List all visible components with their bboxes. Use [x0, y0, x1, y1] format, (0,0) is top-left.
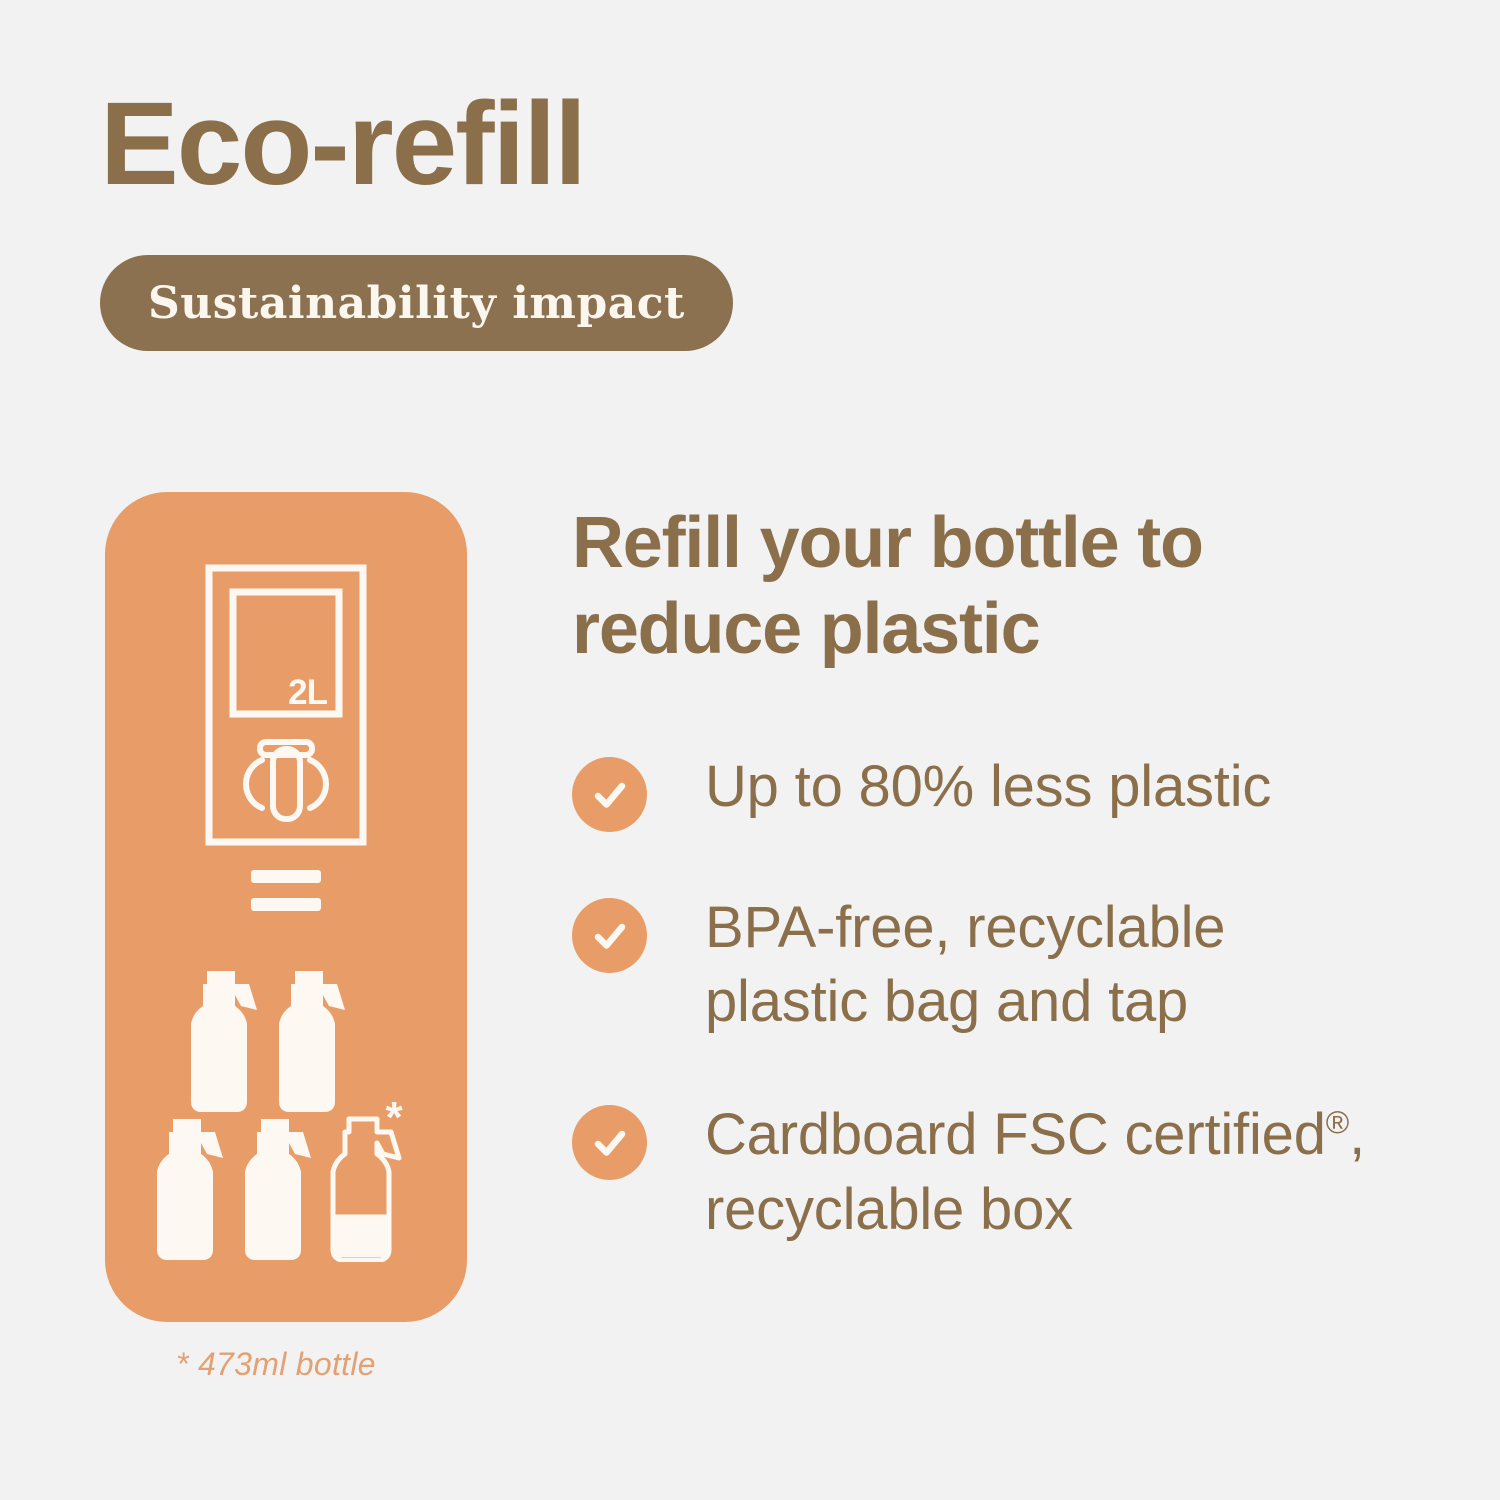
list-item-line-1-punct: , [1349, 1102, 1365, 1167]
asterisk-marker: * [385, 1093, 403, 1142]
list-item-line-1: Up to 80% less plastic [705, 754, 1271, 819]
check-icon [572, 1105, 647, 1180]
bottle-filled [157, 1119, 311, 1260]
headline-line-1: Refill your bottle to [572, 500, 1452, 586]
spray-bottles-icon: * [155, 962, 417, 1262]
main-content: Refill your bottle to reduce plastic [572, 500, 1452, 673]
page-title: Eco-refill [100, 85, 585, 203]
list-item: Up to 80% less plastic [572, 750, 1472, 832]
list-item-label: BPA-free, recyclable plastic bag and tap [705, 891, 1225, 1039]
status-badge-label: Sustainability impact [148, 278, 685, 329]
list-item-line-2: plastic bag and tap [705, 969, 1188, 1034]
list-item: Cardboard FSC certified®, recyclable box [572, 1098, 1472, 1246]
check-icon [572, 898, 647, 973]
list-item-line-1-text: Cardboard FSC certified [705, 1102, 1326, 1167]
illustration-card: 2L [105, 492, 467, 1322]
footnote-text: * 473ml bottle [176, 1346, 376, 1383]
list-item-line-1: BPA-free, recyclable [705, 895, 1225, 960]
registered-trademark-symbol: ® [1326, 1105, 1349, 1141]
box-volume-label: 2L [288, 673, 327, 712]
list-item-line-2: recyclable box [705, 1177, 1073, 1242]
list-item-label: Cardboard FSC certified®, recyclable box [705, 1098, 1365, 1246]
equals-icon [251, 866, 321, 916]
list-item: BPA-free, recyclable plastic bag and tap [572, 891, 1472, 1039]
status-badge: Sustainability impact [100, 255, 733, 351]
benefits-list: Up to 80% less plastic BPA-free, recycla… [572, 750, 1472, 1247]
refill-box-icon: 2L [205, 564, 367, 846]
bottle-filled [191, 971, 345, 1112]
check-icon [572, 757, 647, 832]
headline-line-2: reduce plastic [572, 586, 1452, 672]
eco-refill-infographic: Eco-refill Sustainability impact 2L [0, 0, 1500, 1500]
list-item-label: Up to 80% less plastic [705, 750, 1271, 824]
headline: Refill your bottle to reduce plastic [572, 500, 1452, 673]
